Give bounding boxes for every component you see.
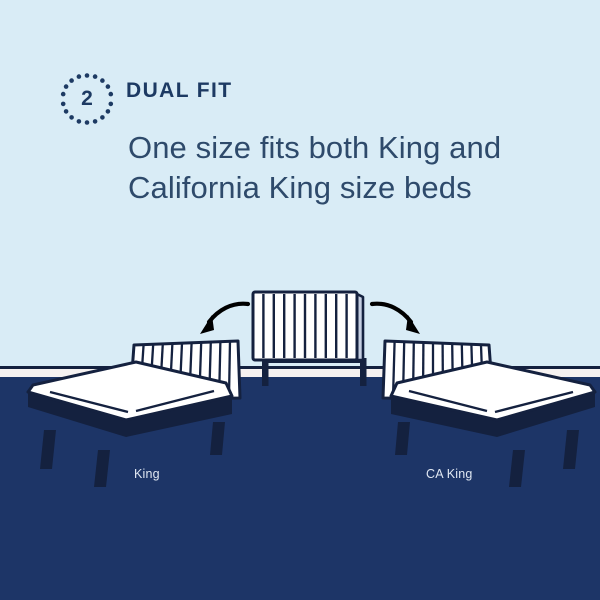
dual-fit-infographic: 2 DUAL FIT One size fits both King and C… <box>0 0 600 600</box>
page-title: One size fits both King and California K… <box>128 128 568 208</box>
step-badge-number: 2 <box>60 72 114 126</box>
step-badge: 2 <box>60 72 114 126</box>
bed-ca-king-caption: CA King <box>426 467 473 481</box>
section-eyebrow: DUAL FIT <box>126 79 232 103</box>
floor-background <box>0 377 600 600</box>
bed-king-caption: King <box>134 467 160 481</box>
baseboard <box>0 369 600 377</box>
